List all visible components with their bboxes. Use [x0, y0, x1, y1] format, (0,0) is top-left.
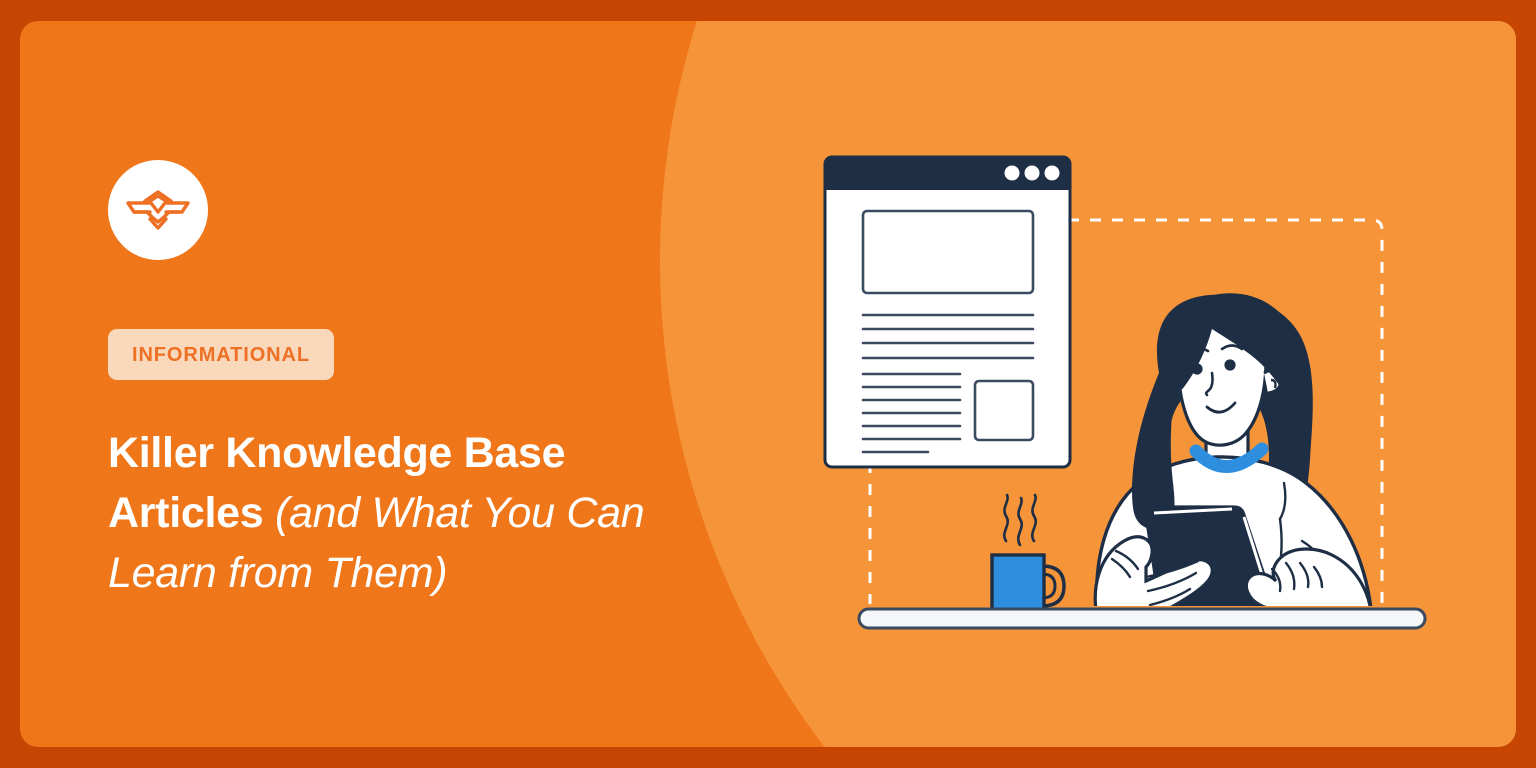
mug-body	[992, 555, 1044, 616]
window-dot-1	[1005, 166, 1020, 181]
desk-surface	[859, 609, 1425, 628]
illustration	[20, 21, 1516, 747]
steam-lines	[1004, 495, 1035, 545]
article-text-lines-half	[863, 374, 960, 452]
outer-frame: INFORMATIONAL Killer Knowledge Base Arti…	[0, 0, 1536, 768]
banner-card: INFORMATIONAL Killer Knowledge Base Arti…	[20, 21, 1516, 747]
wings-shield-icon	[125, 188, 191, 232]
hero-image-placeholder	[863, 211, 1033, 293]
status-badge: INFORMATIONAL	[108, 329, 334, 380]
eye-right	[1224, 359, 1235, 370]
woman-character	[1095, 293, 1372, 629]
status-badge-label: INFORMATIONAL	[132, 345, 310, 365]
window-dot-3	[1045, 166, 1060, 181]
page-title: Killer Knowledge Base Articles (and What…	[108, 423, 648, 603]
eye-left	[1191, 363, 1202, 374]
winged-emblem-logo[interactable]	[108, 160, 208, 260]
article-browser-mockup	[825, 157, 1070, 467]
inline-image-placeholder	[975, 381, 1033, 440]
window-dot-2	[1025, 166, 1040, 181]
coffee-mug	[992, 495, 1064, 616]
